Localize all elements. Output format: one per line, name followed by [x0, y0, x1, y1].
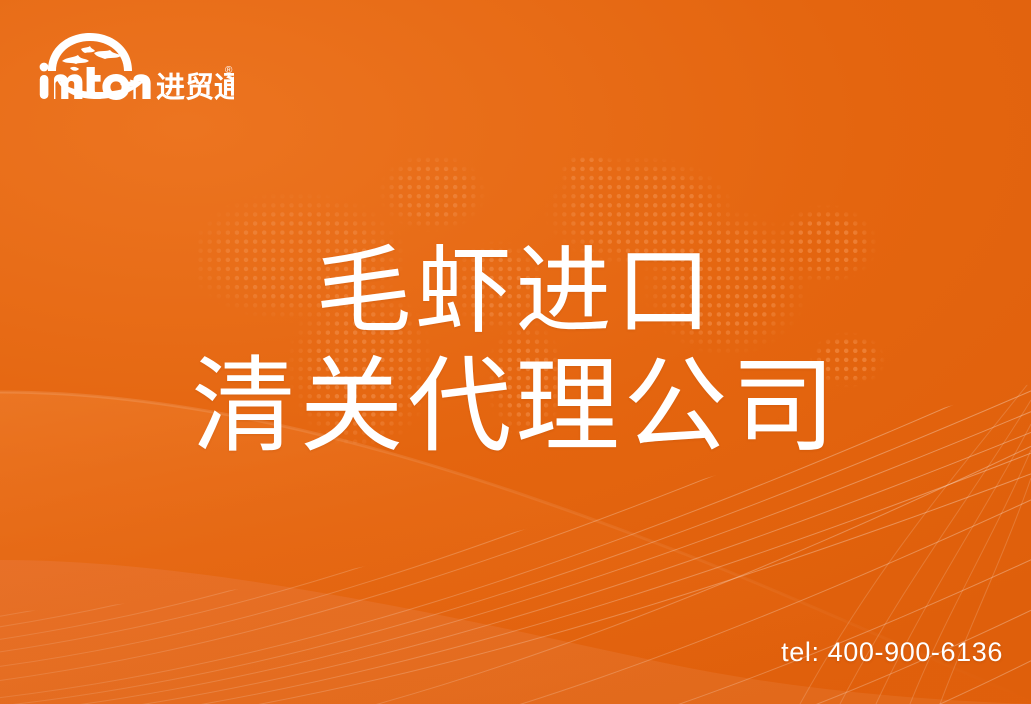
- logo-chinese-name: 进贸通: [156, 71, 234, 103]
- imton-logo[interactable]: 进贸通 ®: [34, 27, 234, 103]
- globe-arc-icon: [48, 33, 132, 71]
- headline-line-1: 毛虾进口: [0, 236, 1031, 348]
- registered-trademark-icon: ®: [225, 65, 233, 76]
- contact-phone[interactable]: tel: 400-900-6136: [781, 637, 1003, 668]
- headline-block: 毛虾进口 清关代理公司: [0, 236, 1031, 466]
- promo-banner: 进贸通 ® 毛虾进口 清关代理公司 tel: 400-900-6136: [0, 0, 1031, 704]
- headline-line-2: 清关代理公司: [0, 348, 1031, 466]
